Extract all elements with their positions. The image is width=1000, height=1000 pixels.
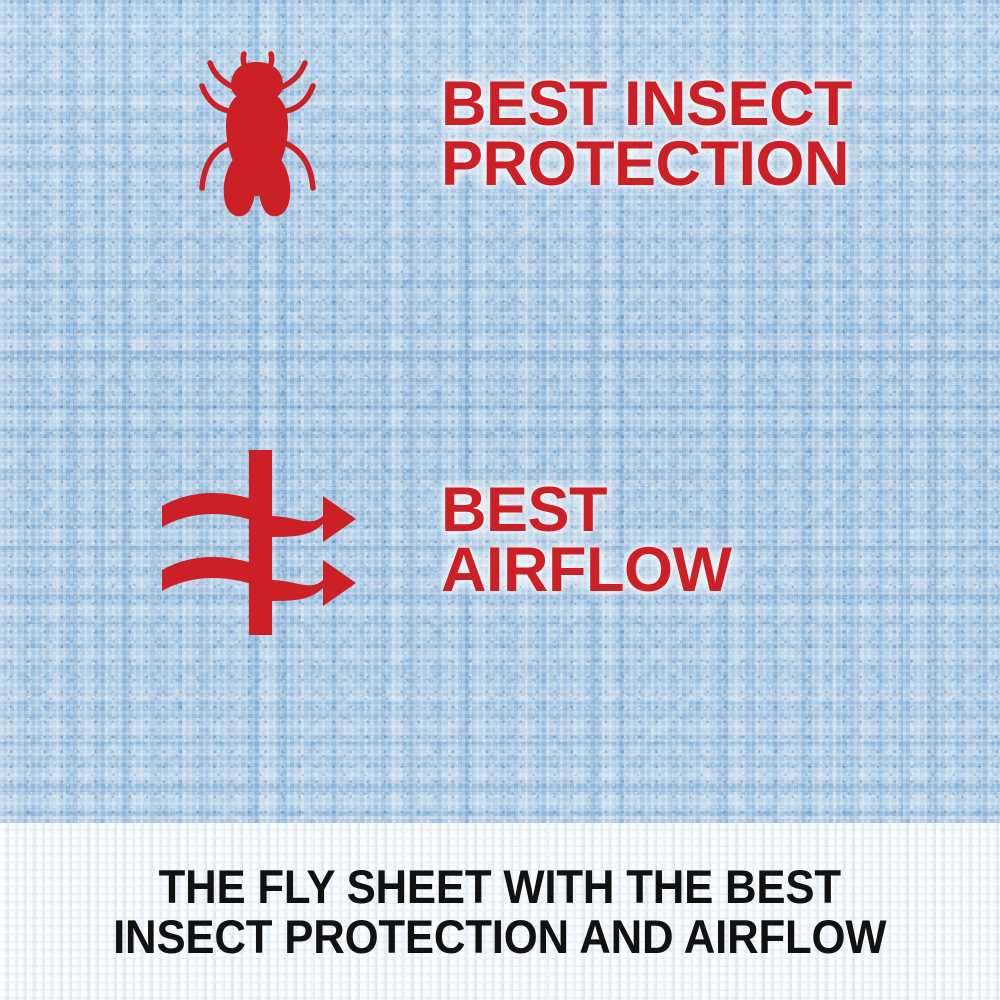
feature-row-airflow: BEST AIRFLOW [0, 222, 1000, 418]
caption-headline: THE FLY SHEET WITH THE BEST INSECT PROTE… [113, 862, 886, 962]
infographic-poster: BEST INSECT PROTECTION BEST AIRFLOW [0, 0, 1000, 1000]
feature-row-insect-protection: BEST INSECT PROTECTION [0, 18, 1000, 208]
feature-label-insect-protection: BEST INSECT PROTECTION [441, 74, 852, 195]
feature-row-uv-protection: 40% UV PROTECTION [0, 440, 1000, 650]
fly-icon [182, 40, 332, 225]
caption-banner: THE FLY SHEET WITH THE BEST INSECT PROTE… [0, 823, 1000, 1000]
feature-list: BEST INSECT PROTECTION BEST AIRFLOW [0, 0, 1000, 823]
feature-row-durability: PLAYFUL DURABILITY [0, 650, 1000, 820]
